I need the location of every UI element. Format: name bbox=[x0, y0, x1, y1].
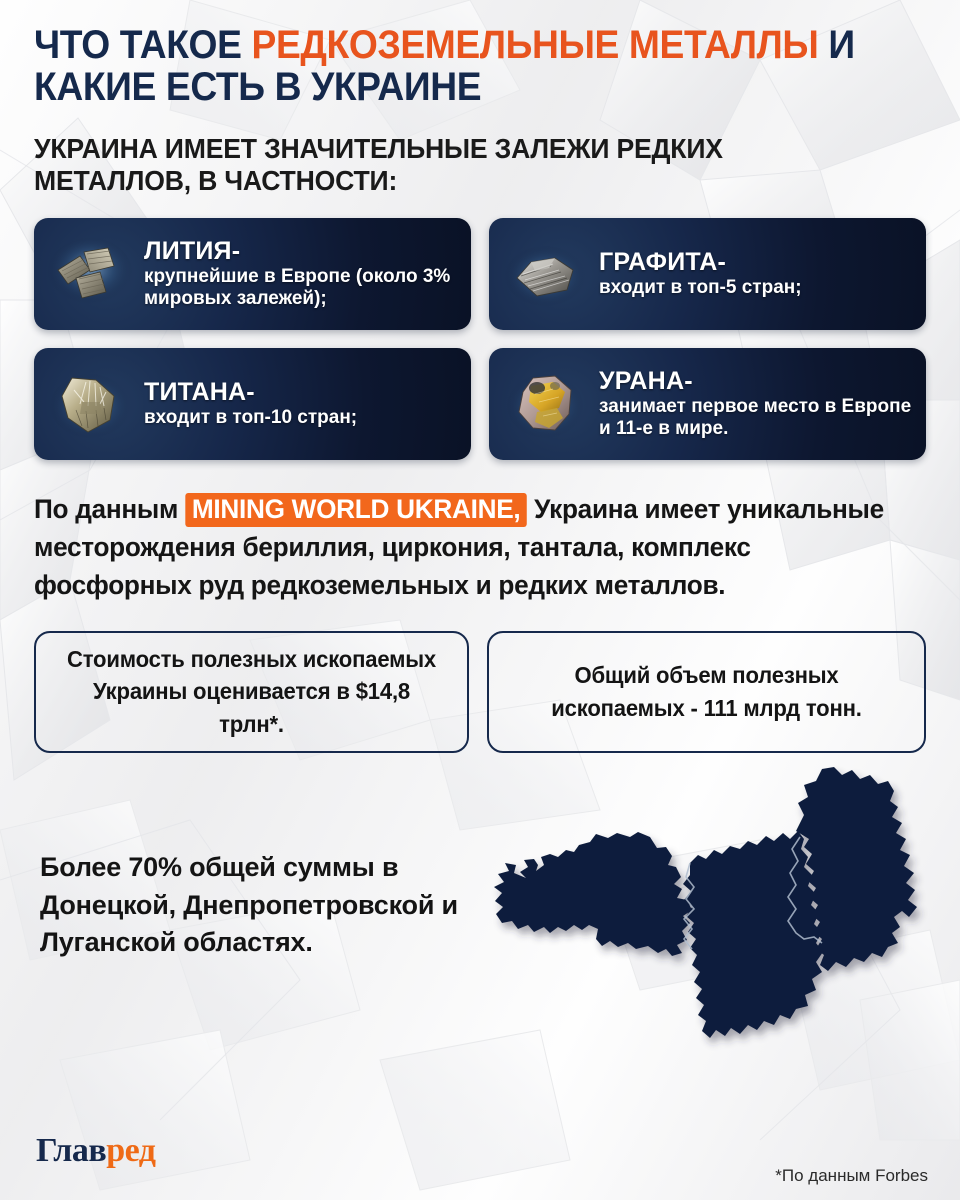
subtitle: УКРАИНА ИМЕЕТ ЗНАЧИТЕЛЬНЫЕ ЗАЛЕЖИ РЕДКИХ… bbox=[34, 133, 881, 198]
logo-part-accent: ред bbox=[106, 1132, 155, 1169]
titanium-ore-icon bbox=[42, 356, 138, 452]
infographic-page: ЧТО ТАКОЕ РЕДКОЗЕМЕЛЬНЫЕ МЕТАЛЛЫ И КАКИЕ… bbox=[0, 0, 960, 1200]
card-title: ТИТАНА- bbox=[144, 379, 357, 405]
graphite-ore-icon bbox=[497, 226, 593, 322]
mineral-card-titanium: ТИТАНА- входит в топ-10 стран; bbox=[34, 348, 471, 460]
footer: Главред *По данным Forbes bbox=[0, 1110, 960, 1200]
stat-text: Стоимость полезных ископаемых Украины оц… bbox=[62, 643, 441, 741]
map-region-dnipropetrovsk bbox=[494, 832, 692, 956]
card-title: ЛИТИЯ- bbox=[144, 238, 459, 264]
glavred-logo[interactable]: Главред bbox=[36, 1134, 156, 1168]
bottom-section: Более 70% общей суммы в Донецкой, Днепро… bbox=[34, 775, 926, 1015]
logo-part-primary: Глав bbox=[36, 1132, 106, 1169]
stat-box-value: Стоимость полезных ископаемых Украины оц… bbox=[34, 631, 469, 753]
card-title: УРАНА- bbox=[599, 368, 914, 394]
stat-box-volume: Общий объем полезных ископаемых - 111 мл… bbox=[487, 631, 926, 753]
page-title: ЧТО ТАКОЕ РЕДКОЗЕМЕЛЬНЫЕ МЕТАЛЛЫ И КАКИЕ… bbox=[34, 0, 864, 109]
mineral-cards-grid: ЛИТИЯ- крупнейшие в Европе (около 3% мир… bbox=[34, 218, 926, 460]
lithium-ore-icon bbox=[42, 226, 138, 322]
ukraine-oblasts-map bbox=[478, 753, 948, 1053]
card-description: входит в топ-10 стран; bbox=[144, 407, 357, 429]
regions-statement: Более 70% общей суммы в Донецкой, Днепро… bbox=[40, 849, 460, 962]
card-title: ГРАФИТА- bbox=[599, 249, 802, 275]
card-description: крупнейшие в Европе (около 3% мировых за… bbox=[144, 266, 459, 310]
title-accent: РЕДКОЗЕМЕЛЬНЫЕ МЕТАЛЛЫ bbox=[252, 23, 819, 67]
mineral-card-uranium: УРАНА- занимает первое место в Европе и … bbox=[489, 348, 926, 460]
card-description: входит в топ-5 стран; bbox=[599, 277, 802, 299]
mining-world-ukraine-badge: MINING WORLD UKRAINE, bbox=[185, 493, 527, 527]
mineral-card-graphite: ГРАФИТА- входит в топ-5 стран; bbox=[489, 218, 926, 330]
mineral-card-lithium: ЛИТИЯ- крупнейшие в Европе (около 3% мир… bbox=[34, 218, 471, 330]
card-description: занимает первое место в Европе и 11-е в … bbox=[599, 396, 914, 440]
source-note: *По данным Forbes bbox=[775, 1166, 928, 1186]
paragraph-before: По данным bbox=[34, 494, 185, 524]
uranium-ore-icon bbox=[497, 356, 593, 452]
title-part-1: ЧТО ТАКОЕ bbox=[34, 23, 252, 67]
map-region-donetsk bbox=[683, 831, 823, 1038]
source-paragraph: По данным MINING WORLD UKRAINE, Украина … bbox=[34, 490, 899, 605]
stats-row: Стоимость полезных ископаемых Украины оц… bbox=[34, 631, 926, 753]
stat-text: Общий объем полезных ископаемых - 111 мл… bbox=[515, 659, 898, 724]
